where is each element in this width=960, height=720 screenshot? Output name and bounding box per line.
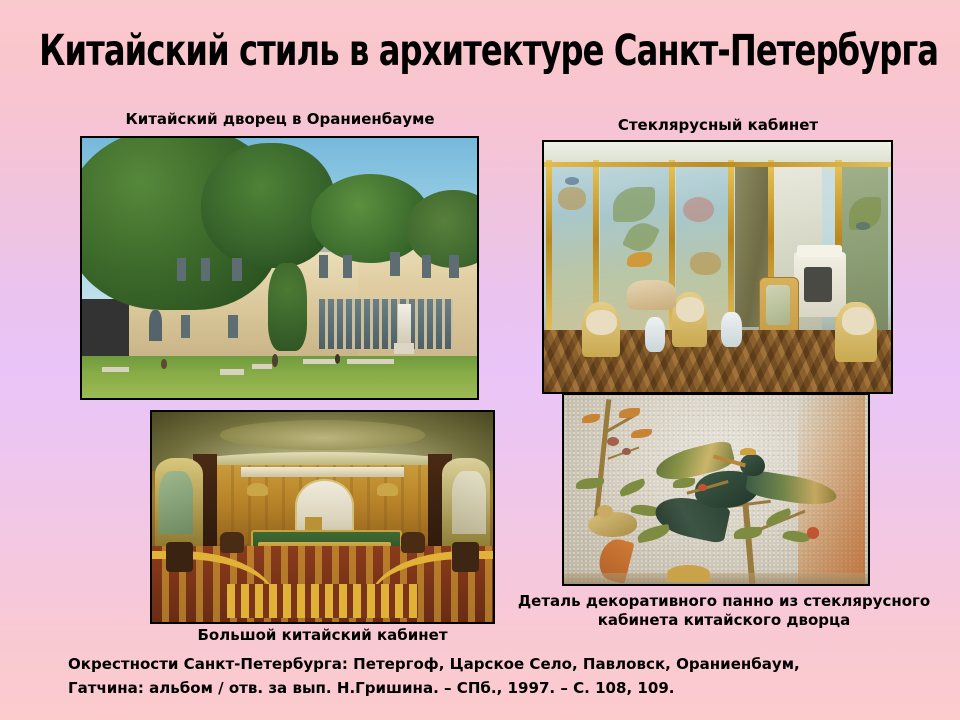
- wall-sconce: [377, 483, 397, 496]
- presentation-slide: Китайский стиль в архитектуре Санкт-Пете…: [0, 0, 960, 720]
- palace-window: [181, 315, 190, 338]
- ivy-growth: [268, 263, 308, 351]
- alcove-mirror-left: [159, 471, 193, 534]
- visitor-figure: [272, 354, 278, 367]
- palace-window: [449, 255, 458, 278]
- palace-window: [343, 255, 352, 278]
- photo-glass-bead-cabinet-image: [544, 142, 891, 392]
- park-bench: [220, 369, 244, 374]
- caption-glass-bead-cabinet: Стеклярусный кабинет: [542, 116, 894, 134]
- source-citation: Окрестности Санкт-Петербурга: Петергоф, …: [68, 652, 948, 700]
- gilded-cornice-band: [544, 162, 891, 167]
- photo-chinese-palace[interactable]: [80, 136, 479, 400]
- painted-pheasant: [627, 252, 651, 267]
- alcove-curtain-right: [452, 471, 486, 534]
- photo-chinese-palace-image: [82, 138, 477, 398]
- fireplace-mantel: [797, 245, 842, 258]
- side-furniture: [166, 542, 193, 571]
- lawn-layer: [82, 356, 477, 398]
- palace-window: [390, 252, 399, 275]
- source-citation-line-2: Гатчина: альбом / отв. за вып. Н.Гришина…: [68, 676, 922, 700]
- photo-glass-bead-cabinet[interactable]: [542, 140, 893, 394]
- berry-cluster: [607, 437, 619, 446]
- palace-doorway: [149, 310, 162, 341]
- wall-sconce: [247, 483, 267, 496]
- photo-great-chinese-cabinet[interactable]: [150, 410, 495, 624]
- fireplace-opening: [804, 267, 832, 302]
- gilded-moulding: [728, 160, 734, 335]
- fire-screen-panel: [766, 285, 790, 325]
- side-chair: [220, 532, 244, 553]
- palace-gallery-mullions: [319, 299, 453, 348]
- armchair-back: [586, 310, 617, 335]
- slide-title-text: Китайский стиль в архитектуре Санкт-Пете…: [39, 14, 938, 90]
- caption-great-chinese-cabinet: Большой китайский кабинет: [150, 626, 495, 644]
- palace-window: [201, 258, 210, 281]
- park-bench: [102, 367, 130, 372]
- side-furniture: [452, 542, 479, 571]
- porcelain-vase: [645, 317, 666, 352]
- fruit: [807, 527, 819, 538]
- caption-decorative-panel-detail: Деталь декоративного панно из стеклярусн…: [498, 592, 950, 630]
- slide-title: Китайский стиль в архитектуре Санкт-Пете…: [0, 14, 960, 76]
- console-table: [627, 280, 676, 310]
- photo-decorative-panel-detail[interactable]: [562, 393, 870, 586]
- park-bench: [303, 359, 339, 364]
- garden-statue: [398, 304, 411, 346]
- porcelain-vase: [721, 312, 742, 347]
- panel-ground: [564, 573, 868, 584]
- park-bench: [347, 359, 394, 364]
- wall-frieze: [241, 467, 405, 478]
- caption-chinese-palace: Китайский дворец в Ораниенбауме: [80, 110, 480, 128]
- statue-pedestal: [394, 343, 414, 353]
- chinoiserie-motif: [683, 197, 714, 222]
- photo-great-chinese-cabinet-image: [152, 412, 493, 622]
- second-bird-head: [597, 505, 612, 518]
- palace-window: [177, 258, 186, 281]
- ceiling-medallion: [220, 420, 425, 449]
- source-citation-line-1: Окрестности Санкт-Петербурга: Петергоф, …: [68, 652, 922, 676]
- decorative-ornament: [667, 565, 710, 582]
- visitor-figure: [161, 359, 167, 369]
- painted-bird: [856, 222, 870, 230]
- bird-crest: [740, 448, 755, 456]
- park-bench: [252, 364, 272, 369]
- palace-window: [422, 255, 431, 278]
- armchair-back: [842, 307, 873, 335]
- palace-window: [232, 258, 241, 281]
- chinoiserie-motif: [690, 252, 721, 275]
- photo-decorative-panel-detail-image: [564, 395, 868, 584]
- second-bird-body: [588, 512, 637, 537]
- painted-bird: [565, 177, 579, 185]
- parquet-meander: [227, 584, 418, 618]
- armchair-back: [676, 297, 704, 322]
- palace-window: [319, 255, 328, 278]
- palace-window: [228, 315, 237, 338]
- chinoiserie-motif: [558, 187, 586, 210]
- gilded-moulding: [546, 160, 552, 335]
- side-chair: [401, 532, 425, 553]
